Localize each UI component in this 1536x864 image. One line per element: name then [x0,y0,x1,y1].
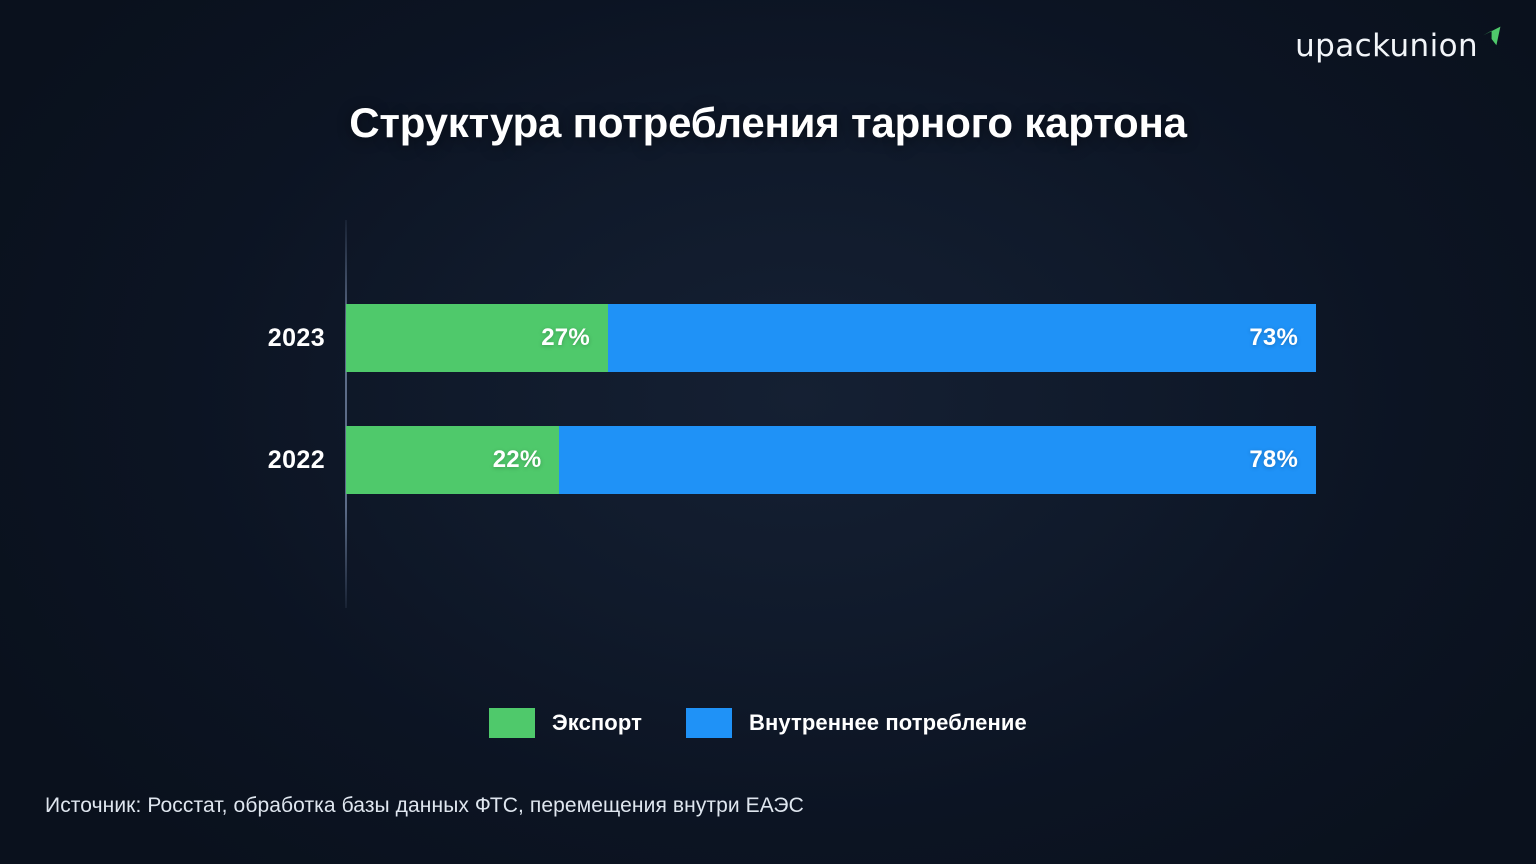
brand-wordmark: upackunion [1295,24,1478,68]
slide-canvas: upackunion Структура потребления тарного… [0,0,1536,864]
chart-title: Структура потребления тарного картона [0,99,1536,147]
bar-segment-domestic-2023[interactable]: 73% [608,304,1316,372]
y-axis-line [345,220,347,608]
legend-swatch-export-icon [489,708,535,738]
legend-item-export[interactable]: Экспорт [489,708,642,738]
bar-segment-export-2022[interactable]: 22% [346,426,559,494]
category-label-2023: 2023 [175,304,325,372]
legend-item-domestic[interactable]: Внутреннее потребление [686,708,1027,738]
source-note: Источник: Росстат, обработка базы данных… [45,794,804,818]
chart-legend: Экспорт Внутреннее потребление [489,708,1027,738]
stacked-bar-2022: 22% 78% [346,426,1316,494]
bar-segment-domestic-2022[interactable]: 78% [559,426,1316,494]
legend-swatch-domestic-icon [686,708,732,738]
stacked-bar-2023: 27% 73% [346,304,1316,372]
category-label-2022: 2022 [175,426,325,494]
bar-segment-export-2023[interactable]: 27% [346,304,608,372]
arrow-corner-icon [1480,26,1502,52]
brand-logo: upackunion [1295,24,1502,68]
legend-label-domestic: Внутреннее потребление [749,710,1027,736]
legend-label-export: Экспорт [552,710,642,736]
chart-plot-area: 2023 27% 73% 2022 22% 78% [0,208,1536,608]
